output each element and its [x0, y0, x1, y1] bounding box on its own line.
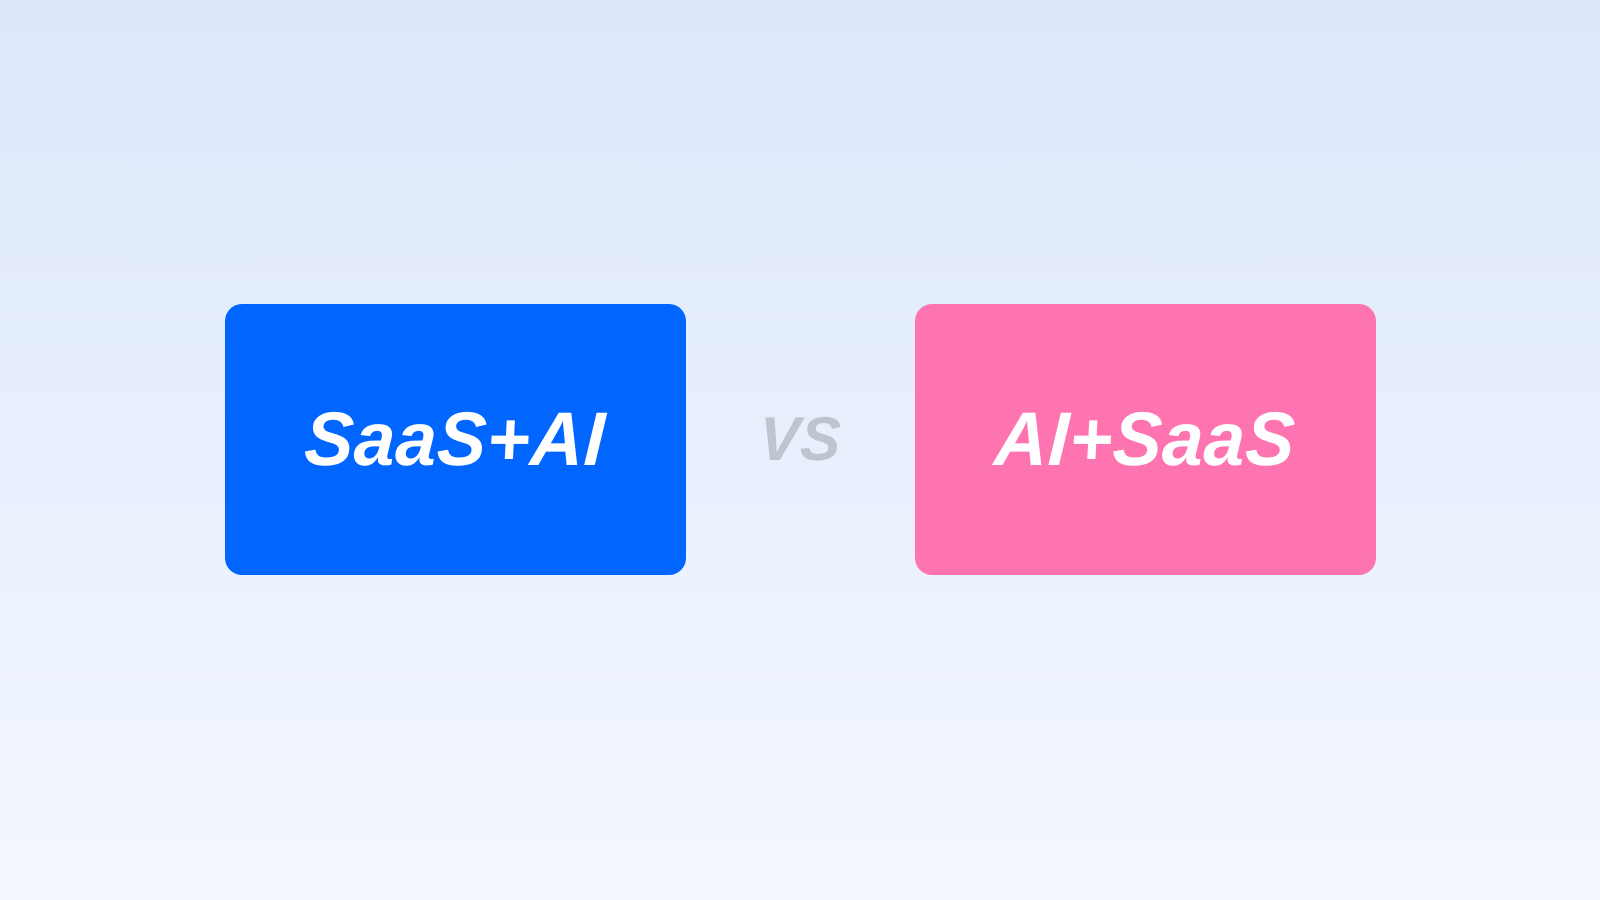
comparison-card-left[interactable]: SaaS+AI [225, 304, 686, 575]
comparison-row: SaaS+AI VS AI+SaaS [0, 304, 1600, 575]
comparison-card-right-label: AI+SaaS [993, 402, 1297, 478]
comparison-card-right[interactable]: AI+SaaS [915, 304, 1376, 575]
comparison-card-left-label: SaaS+AI [303, 402, 607, 478]
vs-separator: VS [686, 304, 915, 575]
vs-label: VS [757, 409, 842, 471]
comparison-canvas: SaaS+AI VS AI+SaaS [0, 0, 1600, 900]
